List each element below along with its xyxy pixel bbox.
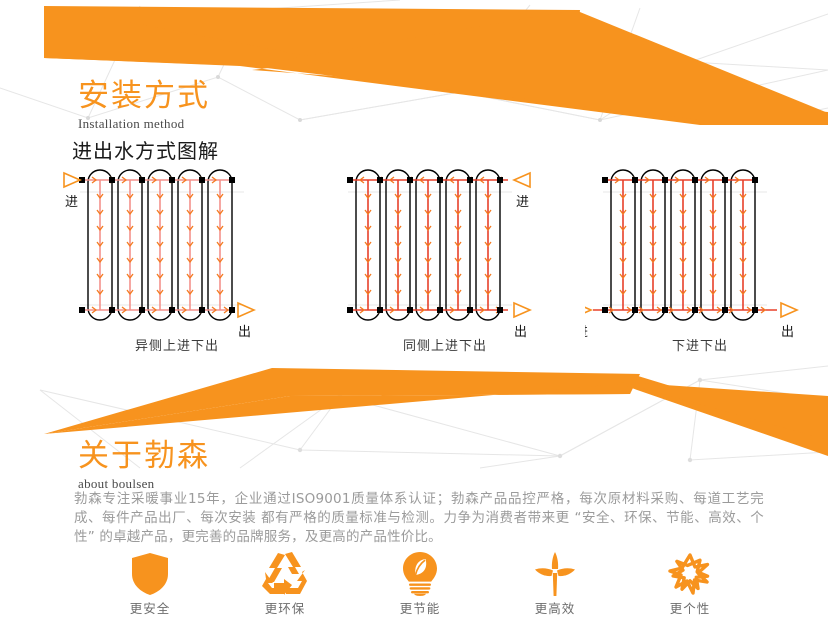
feature-item-efficient[interactable]: 更高效 bbox=[495, 552, 615, 617]
diagram-same-side-top-in-bottom-out: 进 出 bbox=[330, 168, 560, 358]
shield-icon bbox=[130, 552, 170, 596]
about-paragraph: 勃森专注采暖事业15年，企业通过ISO9001质量体系认证；勃森产品品控严格，每… bbox=[74, 490, 764, 547]
diagram-caption-1: 同侧上进下出 bbox=[330, 338, 560, 356]
inlet-label: 进 bbox=[516, 195, 529, 210]
inlet-marker: 进 bbox=[64, 173, 80, 210]
outlet-marker: 出 bbox=[238, 303, 254, 340]
inlet-marker: 进 bbox=[514, 173, 530, 210]
diagram-opposite-top-in-bottom-out: 进 出 bbox=[62, 168, 292, 358]
outlet-marker: 出 bbox=[514, 303, 530, 340]
lightbulb-leaf-icon bbox=[403, 552, 437, 596]
feature-item-safer[interactable]: 更安全 bbox=[90, 552, 210, 617]
connection-nodes bbox=[79, 177, 235, 313]
feature-item-energy-saving[interactable]: 更节能 bbox=[360, 552, 480, 617]
feature-label-personalized: 更个性 bbox=[670, 601, 711, 617]
outlet-marker: 出 bbox=[781, 303, 797, 340]
flow-direction-arrows bbox=[609, 177, 765, 313]
flow-diagram-subheading: 进出水方式图解 bbox=[72, 138, 219, 164]
installation-heading-block: 安装方式 Installation method bbox=[78, 78, 210, 132]
installation-heading-en: Installation method bbox=[78, 115, 210, 132]
product-detail-page: 安装方式 Installation method 进出水方式图解 bbox=[0, 0, 828, 627]
feature-label-eco: 更环保 bbox=[265, 601, 306, 617]
recycle-icon bbox=[262, 552, 308, 596]
feature-label-safer: 更安全 bbox=[130, 601, 171, 617]
feature-item-eco[interactable]: 更环保 bbox=[225, 552, 345, 617]
feature-label-energy-saving: 更节能 bbox=[400, 601, 441, 617]
about-heading-cn: 关于勃森 bbox=[78, 438, 210, 474]
flower-star-icon bbox=[668, 552, 712, 596]
diagram-caption-0: 异侧上进下出 bbox=[62, 338, 292, 356]
flow-direction-arrows bbox=[360, 177, 502, 313]
connection-nodes bbox=[602, 177, 758, 313]
feature-list: 更安全 更环保 bbox=[90, 552, 750, 624]
wind-turbine-icon bbox=[534, 552, 576, 596]
about-heading-block: 关于勃森 about boulsen bbox=[78, 438, 210, 492]
diagram-caption-2: 下进下出 bbox=[585, 338, 815, 356]
feature-item-personalized[interactable]: 更个性 bbox=[630, 552, 750, 617]
installation-heading-cn: 安装方式 bbox=[78, 78, 210, 114]
inlet-label: 进 bbox=[65, 195, 78, 210]
feature-label-efficient: 更高效 bbox=[535, 601, 576, 617]
connection-nodes bbox=[347, 177, 503, 313]
diagram-bottom-in-bottom-out: 进 出 bbox=[585, 168, 815, 358]
inlet-marker: 进 bbox=[585, 303, 591, 340]
